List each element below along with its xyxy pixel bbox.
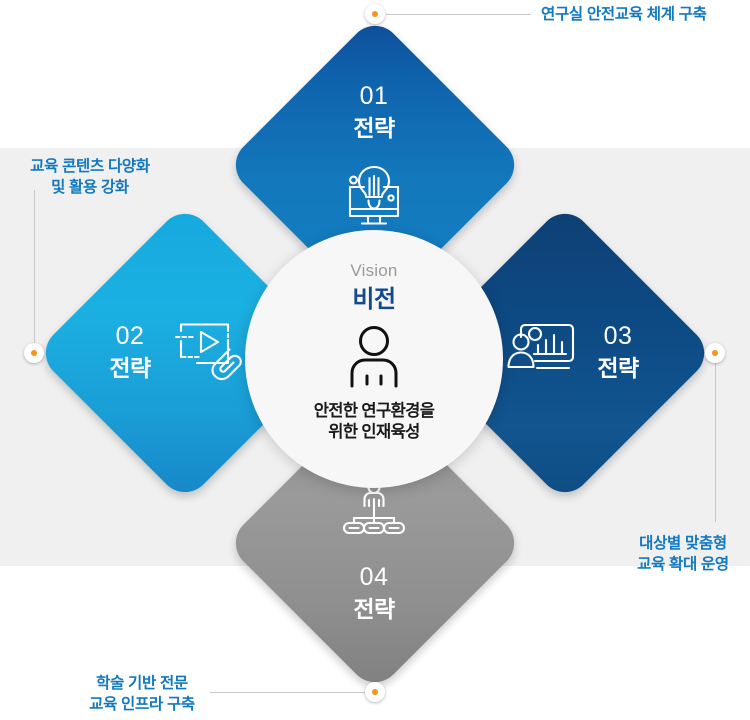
anchor-dot-strategy-02[interactable]: [24, 343, 44, 363]
callout-strategy-02: 교육 콘텐츠 다양화 및 활용 강화: [10, 157, 170, 199]
anchor-dot-strategy-01[interactable]: [365, 4, 385, 24]
connector-line-strategy-01: [386, 14, 531, 15]
vision-label-en: Vision: [350, 262, 397, 279]
connector-line-strategy-02: [34, 190, 35, 353]
vision-label-ko: 비전: [352, 288, 395, 312]
anchor-dot-strategy-03[interactable]: [705, 343, 725, 363]
connector-line-strategy-03: [715, 362, 716, 522]
callout-strategy-01: 연구실 안전교육 체계 구축: [541, 5, 707, 26]
callout-strategy-03: 대상별 맞춤형 교육 확대 운영: [618, 534, 748, 576]
vision-strategy-diagram: 01 전략: [0, 0, 750, 720]
callout-strategy-04: 학술 기반 전문 교육 인프라 구축: [72, 674, 212, 716]
vision-center-circle: Vision 비전 안전한 연구환경을 위한 인재육성: [245, 230, 503, 488]
anchor-dot-strategy-04[interactable]: [365, 682, 385, 702]
connector-line-strategy-04: [210, 692, 365, 693]
person-icon: [345, 326, 403, 393]
vision-description: 안전한 연구환경을 위한 인재육성: [314, 401, 435, 444]
